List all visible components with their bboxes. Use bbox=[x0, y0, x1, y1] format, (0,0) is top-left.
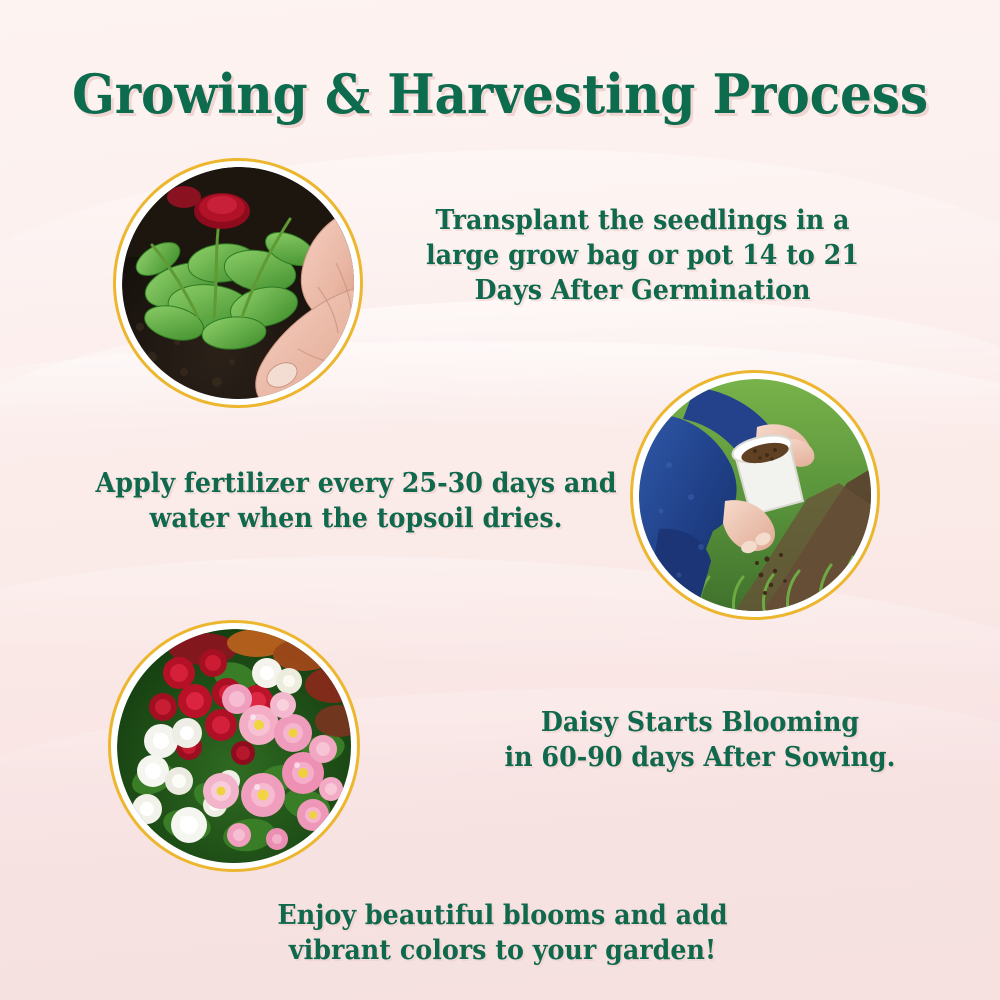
infographic-poster: Growing & Harvesting Process bbox=[0, 0, 1000, 1000]
step-text-fertilize: Apply fertilizer every 25-30 days and wa… bbox=[95, 466, 618, 536]
photo-circle-transplant bbox=[113, 158, 363, 408]
step-text-transplant: Transplant the seedlings in a large grow… bbox=[405, 203, 880, 308]
closing-text: Enjoy beautiful blooms and add vibrant c… bbox=[242, 898, 764, 968]
bed-of-pink-white-red-daisies-image bbox=[117, 629, 351, 863]
page-title: Growing & Harvesting Process bbox=[35, 62, 965, 126]
hands-planting-daisy-seedling-in-soil-image bbox=[122, 167, 354, 399]
photo-circle-fertilize bbox=[630, 370, 880, 620]
photo-circle-blooming bbox=[108, 620, 360, 872]
child-spreading-fertilizer-from-bucket-image bbox=[639, 379, 871, 611]
step-text-blooming: Daisy Starts Blooming in 60-90 days Afte… bbox=[484, 705, 916, 775]
